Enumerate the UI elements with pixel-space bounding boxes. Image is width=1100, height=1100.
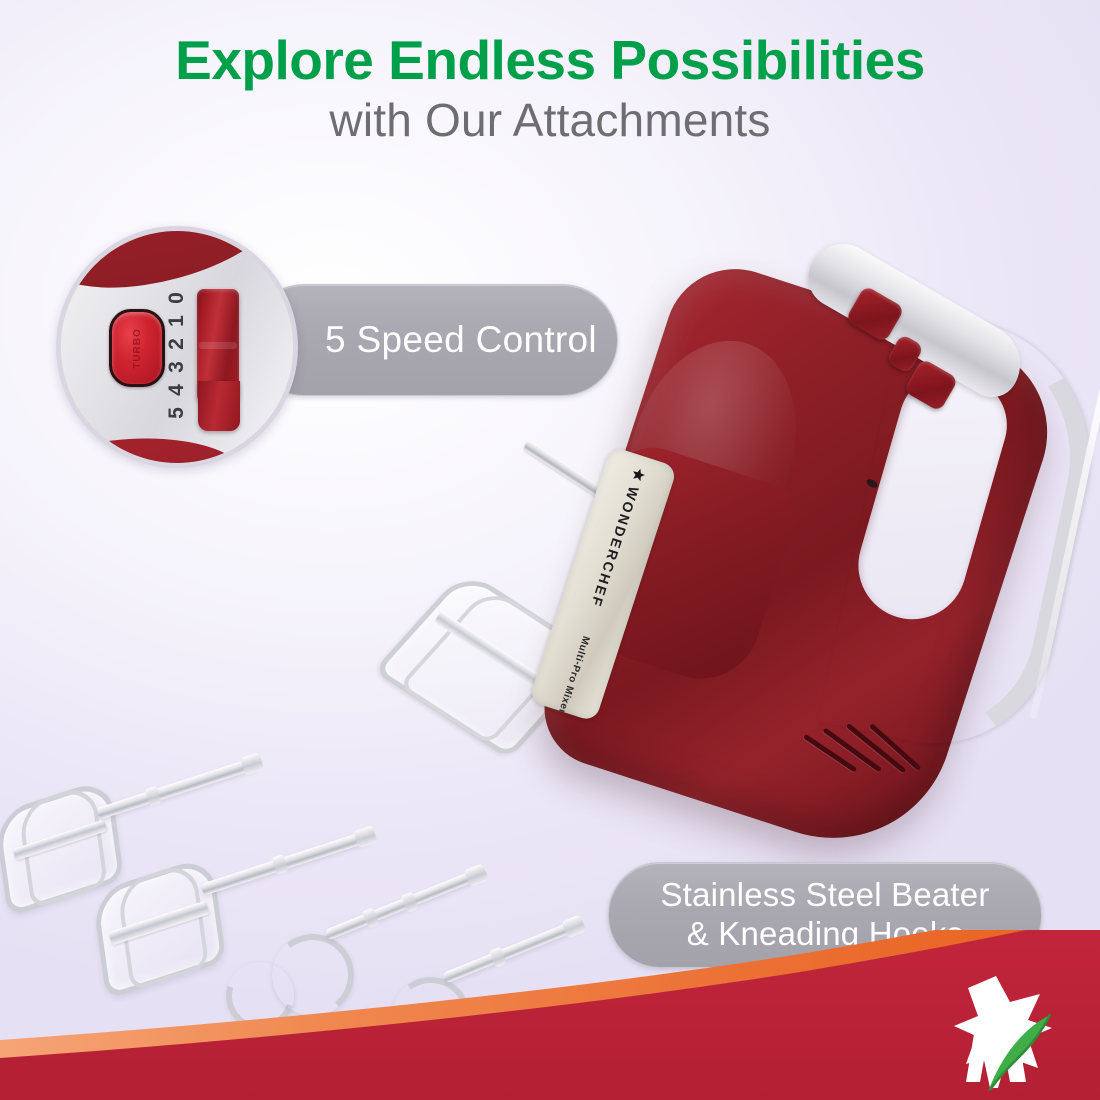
callout-line-1: Stainless Steel Beater [660, 876, 989, 915]
page-title: Explore Endless Possibilities [0, 32, 1100, 88]
speed-number: 1 [166, 315, 188, 327]
wonderchef-logo [940, 972, 1072, 1098]
speed-number: 4 [166, 384, 188, 396]
banner-red-shape [0, 930, 1100, 1100]
speed-number: 2 [166, 338, 188, 350]
callout-speed-control: 5 Speed Control [248, 284, 618, 396]
brand-name: WONDERCHEF [588, 485, 642, 611]
page-subtitle: with Our Attachments [0, 92, 1100, 150]
speed-scale: 0 1 2 3 4 5 [171, 287, 183, 424]
wonderchef-star-icon [628, 465, 648, 485]
speed-number: 0 [166, 292, 188, 304]
turbo-button[interactable]: TURBO [109, 309, 165, 387]
callout-speed-label: 5 Speed Control [325, 319, 597, 361]
speed-slider-tab[interactable] [198, 381, 240, 431]
speed-number: 3 [166, 361, 188, 373]
turbo-button-label: TURBO [132, 328, 143, 369]
magnifier-content: TURBO 0 1 2 3 4 5 [61, 231, 293, 463]
promo-banner: Explore Endless Possibilities with Our A… [0, 0, 1100, 1100]
heading-block: Explore Endless Possibilities with Our A… [0, 32, 1100, 150]
speed-control-magnifier: TURBO 0 1 2 3 4 5 [56, 226, 298, 468]
bottom-banner [0, 930, 1100, 1100]
beater-shaft [200, 829, 373, 895]
model-name: Multi-Pro Mixer [556, 635, 592, 716]
speed-number: 5 [166, 407, 188, 419]
beater-shaft [96, 756, 259, 819]
hand-mixer-product: WONDERCHEF Multi-Pro Mixer [560, 280, 1080, 880]
